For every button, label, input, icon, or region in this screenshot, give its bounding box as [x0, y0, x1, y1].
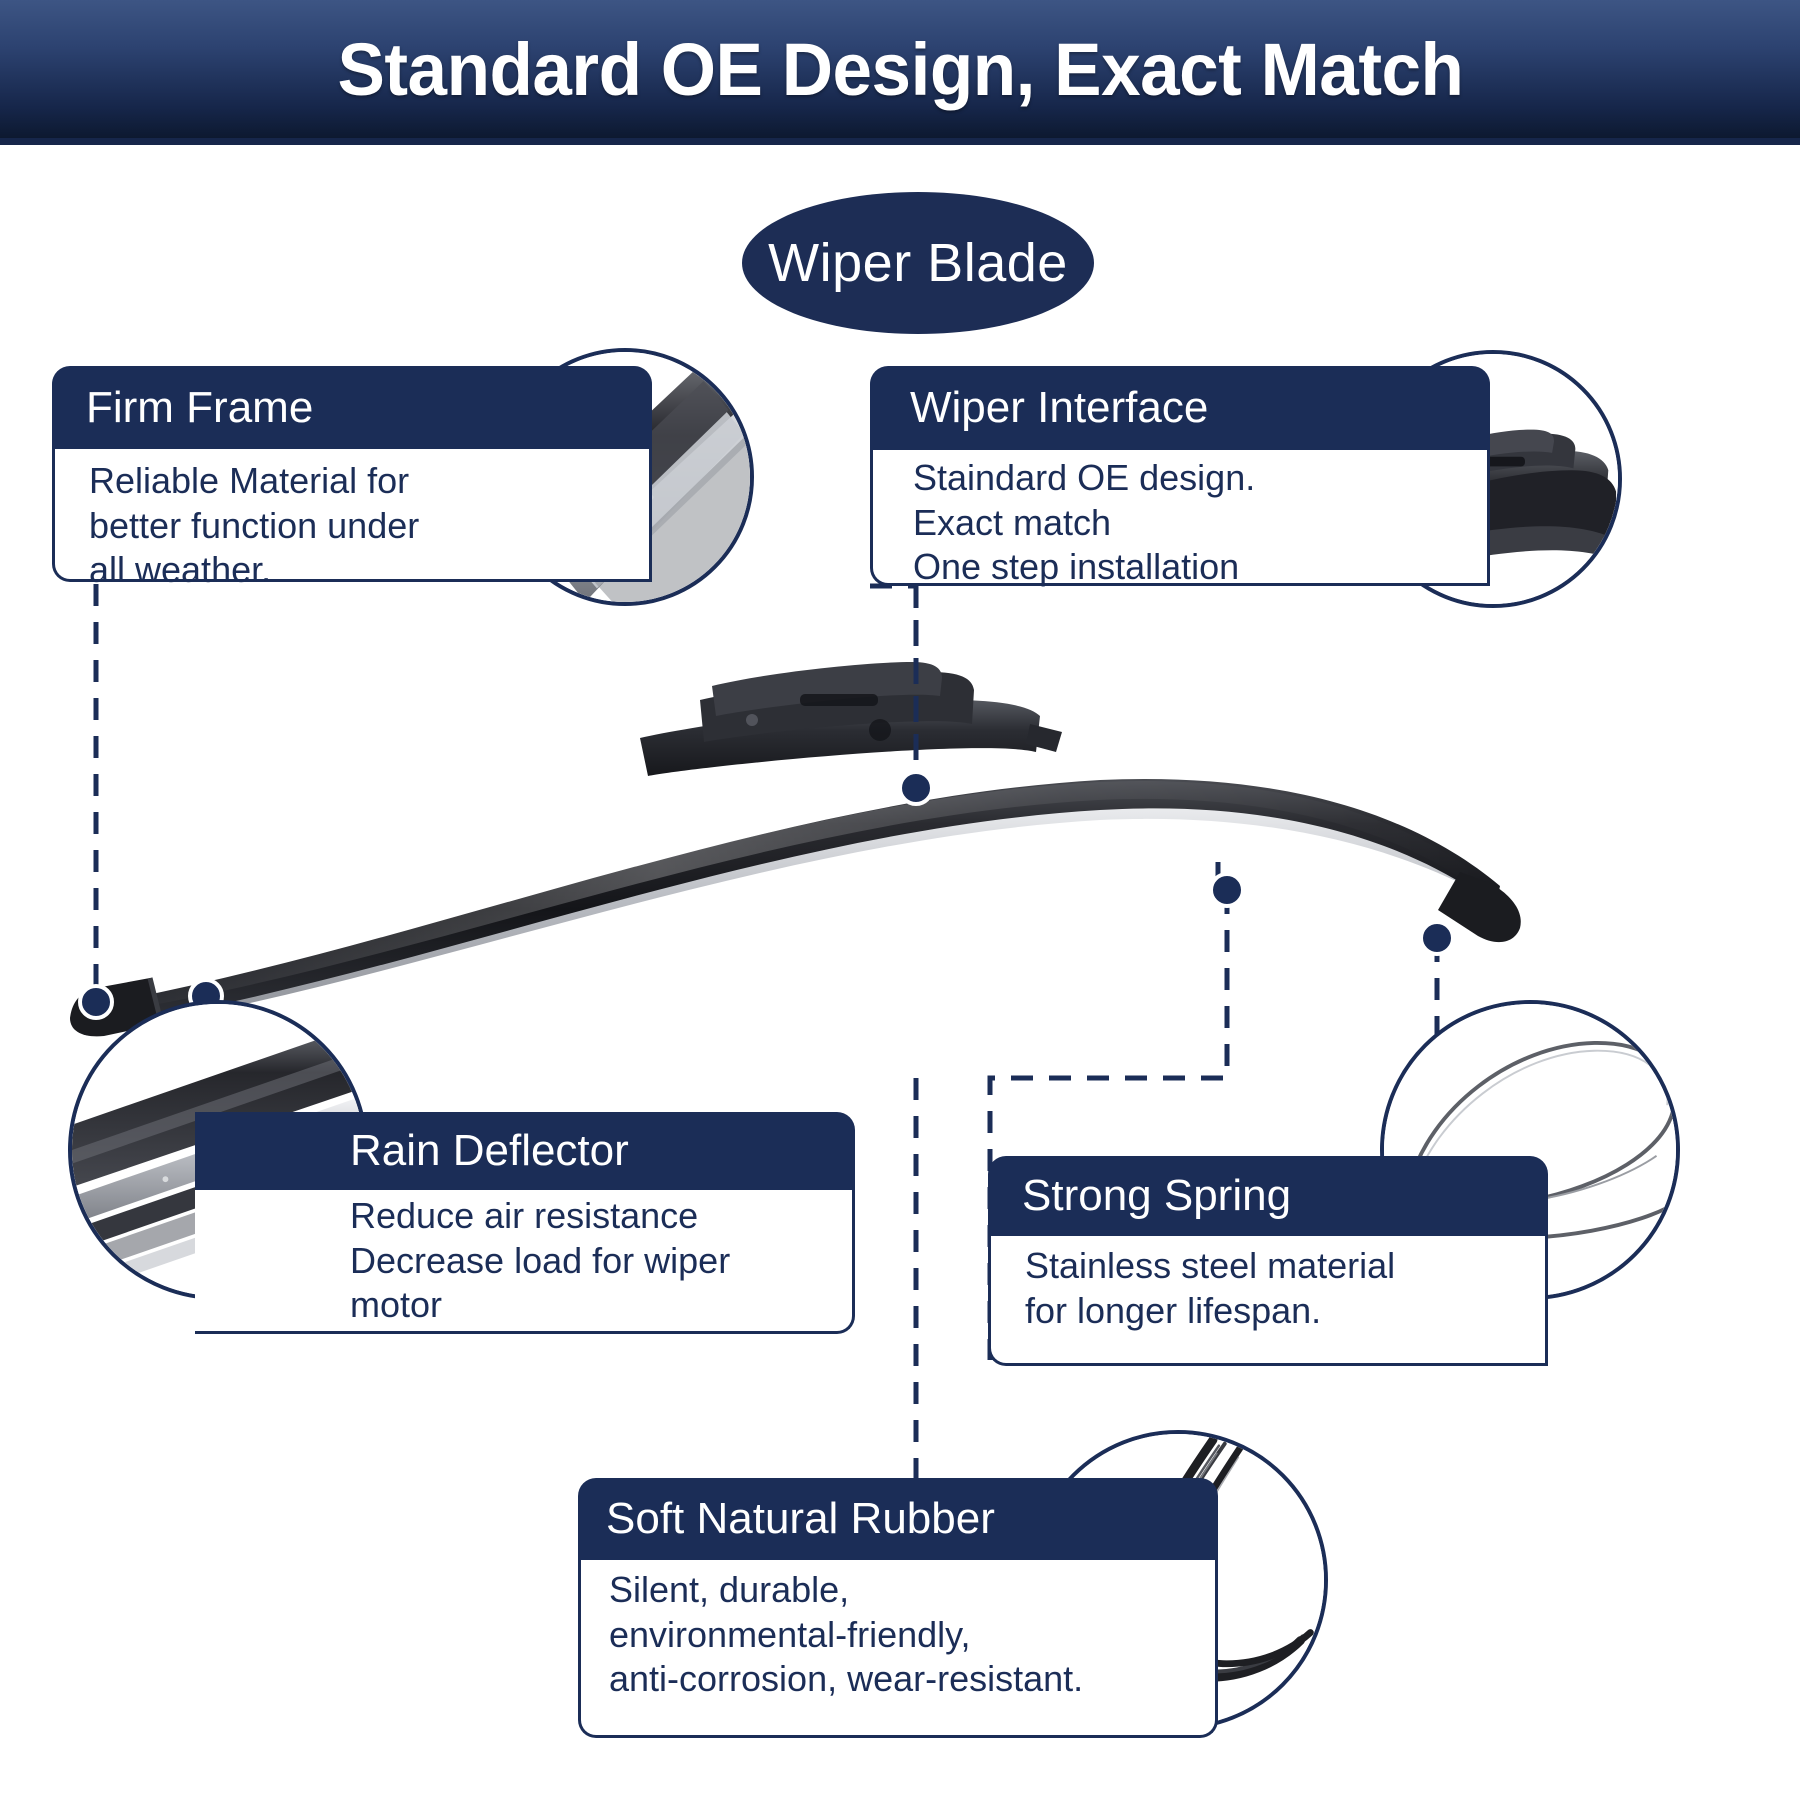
callout-body-wiper-interface: Staindard OE design. Exact match One ste…	[870, 450, 1490, 586]
callout-body-rain-deflector: Reduce air resistance Decrease load for …	[195, 1190, 855, 1334]
callout-header-wiper-interface: Wiper Interface	[870, 366, 1490, 450]
callout-body-strong-spring: Stainless steel material for longer life…	[988, 1236, 1548, 1366]
callout-text-firm-frame: Reliable Material for better function un…	[89, 459, 649, 593]
callout-header-strong-spring: Strong Spring	[988, 1156, 1548, 1236]
callout-text-rain-deflector: Reduce air resistance Decrease load for …	[350, 1194, 852, 1328]
product-badge-label: Wiper Blade	[768, 232, 1068, 294]
callout-title-rain-deflector: Rain Deflector	[350, 1126, 629, 1176]
callout-card-strong-spring: Strong Spring Stainless steel material f…	[988, 1156, 1548, 1366]
callout-card-wiper-interface: Wiper Interface Staindard OE design. Exa…	[870, 366, 1490, 586]
callout-body-soft-rubber: Silent, durable, environmental-friendly,…	[578, 1560, 1218, 1738]
header-underline	[0, 138, 1800, 145]
callout-title-soft-rubber: Soft Natural Rubber	[606, 1494, 995, 1544]
callout-title-firm-frame: Firm Frame	[86, 383, 313, 433]
callout-text-strong-spring: Stainless steel material for longer life…	[1025, 1244, 1545, 1333]
page-title: Standard OE Design, Exact Match	[337, 27, 1463, 112]
callout-header-soft-rubber: Soft Natural Rubber	[578, 1478, 1218, 1560]
callout-header-firm-frame: Firm Frame	[52, 366, 652, 449]
blade-marker-dots	[80, 772, 1453, 1018]
callout-title-strong-spring: Strong Spring	[1022, 1171, 1291, 1221]
header-banner: Standard OE Design, Exact Match	[0, 0, 1800, 138]
callout-card-firm-frame: Firm Frame Reliable Material for better …	[52, 366, 652, 582]
callout-text-soft-rubber: Silent, durable, environmental-friendly,…	[609, 1568, 1215, 1702]
callout-text-wiper-interface: Staindard OE design. Exact match One ste…	[913, 456, 1487, 590]
infographic-canvas: Standard OE Design, Exact Match Wiper Bl…	[0, 0, 1800, 1800]
callout-title-wiper-interface: Wiper Interface	[910, 383, 1208, 433]
callout-header-rain-deflector: Rain Deflector	[195, 1112, 855, 1190]
callout-card-soft-rubber: Soft Natural Rubber Silent, durable, env…	[578, 1478, 1218, 1738]
callout-body-firm-frame: Reliable Material for better function un…	[52, 449, 652, 582]
callout-card-rain-deflector: Rain Deflector Reduce air resistance Dec…	[195, 1112, 855, 1334]
product-badge: Wiper Blade	[742, 192, 1094, 334]
